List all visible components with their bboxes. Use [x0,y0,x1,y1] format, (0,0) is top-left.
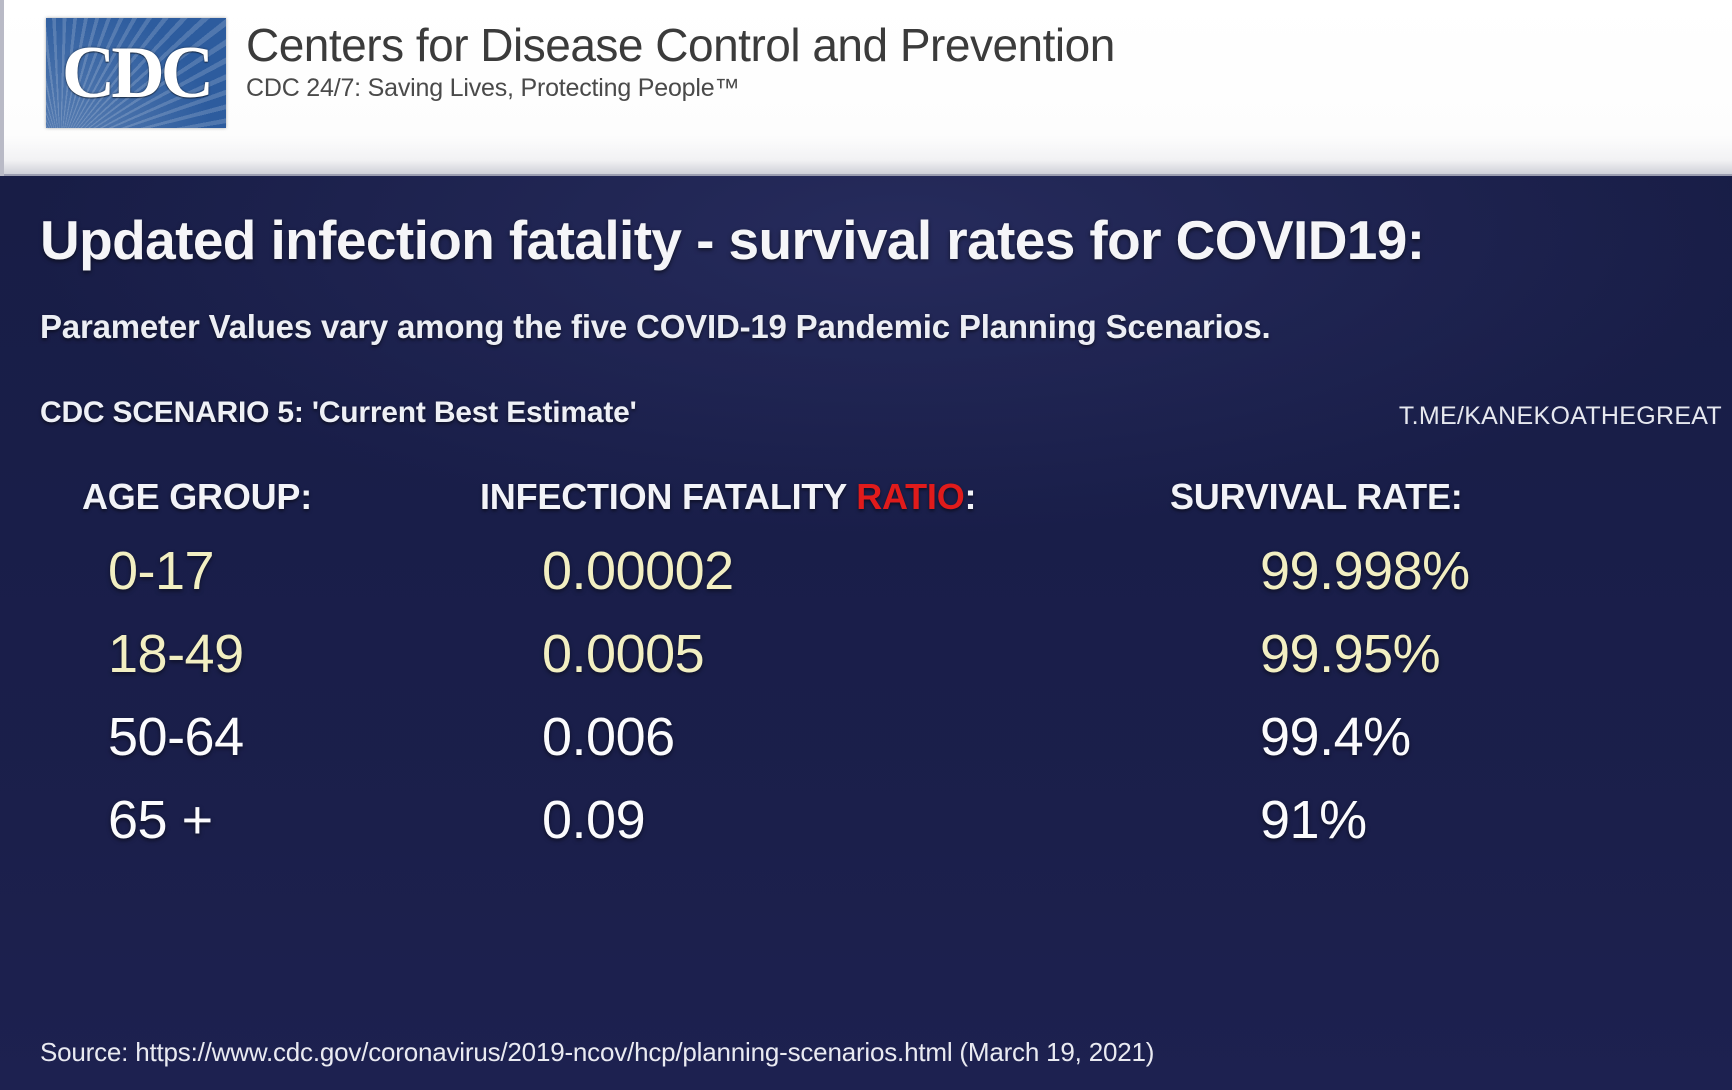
cell-survival-rate: 99.998% [1170,540,1732,602]
cell-infection-fatality-ratio: 0.00002 [480,540,1170,602]
table-row: 0-17 0.00002 99.998% [0,540,1732,623]
cdc-header-band: CDC Centers for Disease Control and Prev… [0,0,1732,176]
source-citation: Source: https://www.cdc.gov/coronavirus/… [40,1037,1154,1068]
ifr-header-prefix: INFECTION FATALITY [480,476,856,517]
cdc-logo-text: CDC [46,18,226,128]
ifr-header-highlight: RATIO [856,476,964,517]
table-row: 65 + 0.09 91% [0,789,1732,872]
column-header-age-group: AGE GROUP: [0,476,480,518]
cell-age-group: 50-64 [0,706,480,768]
subtitle-text: Parameter Values vary among the five COV… [40,308,1700,346]
infographic-panel: Updated infection fatality - survival ra… [0,176,1732,1090]
table-row: 18-49 0.0005 99.95% [0,623,1732,706]
cell-survival-rate: 99.4% [1170,706,1732,768]
page-title: Updated infection fatality - survival ra… [40,208,1700,272]
cell-survival-rate: 99.95% [1170,623,1732,685]
column-header-survival-rate: SURVIVAL RATE: [1170,476,1732,518]
cell-infection-fatality-ratio: 0.09 [480,789,1170,851]
cdc-header-text: Centers for Disease Control and Preventi… [246,20,1115,103]
scenario-label: CDC SCENARIO 5: 'Current Best Estimate' [40,396,637,430]
table-row: 50-64 0.006 99.4% [0,706,1732,789]
cdc-logo: CDC [46,18,226,128]
agency-tagline: CDC 24/7: Saving Lives, Protecting Peopl… [246,74,1115,103]
cell-age-group: 0-17 [0,540,480,602]
cell-age-group: 18-49 [0,623,480,685]
column-header-infection-fatality-ratio: INFECTION FATALITY RATIO: [480,476,1170,518]
agency-title: Centers for Disease Control and Preventi… [246,20,1115,72]
watermark-text: T.ME/KANEKOATHEGREAT [1399,402,1722,431]
ifr-header-suffix: : [965,476,977,517]
cell-infection-fatality-ratio: 0.0005 [480,623,1170,685]
fatality-table: AGE GROUP: INFECTION FATALITY RATIO: SUR… [0,476,1732,872]
cell-age-group: 65 + [0,789,480,851]
cell-survival-rate: 91% [1170,789,1732,851]
cell-infection-fatality-ratio: 0.006 [480,706,1170,768]
table-header-row: AGE GROUP: INFECTION FATALITY RATIO: SUR… [0,476,1732,518]
